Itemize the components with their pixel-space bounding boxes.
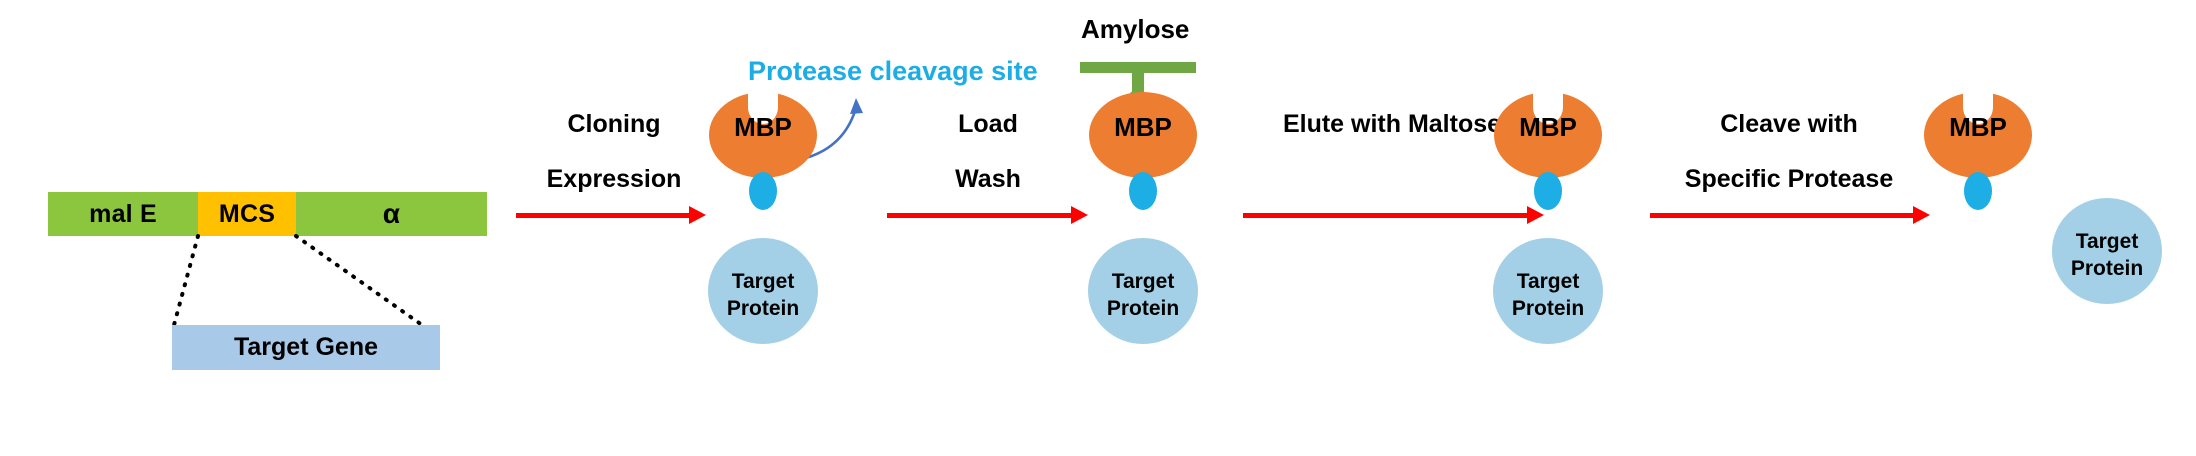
target-protein-3: [1493, 238, 1603, 344]
protease-linker-4: [1964, 172, 1992, 210]
mbp-notch-1: [748, 90, 778, 124]
step-cleave-label-bottom: Specific Protease: [1644, 165, 1934, 194]
protease-linker-2: [1129, 172, 1157, 210]
target-protein-4-released: [2052, 198, 2162, 304]
mbp-protein-2: [1089, 92, 1197, 178]
arrow-load-wash: [887, 205, 1087, 225]
mcs-leader-lines: [150, 230, 450, 330]
step-cloning-label-bottom: Expression: [524, 165, 704, 194]
amylose-label: Amylose: [1081, 14, 1189, 45]
step-cleave-label-top: Cleave with: [1644, 110, 1934, 139]
protease-cleavage-site-label: Protease cleavage site: [748, 56, 1038, 87]
target-gene-box: Target Gene: [172, 325, 440, 370]
diagram-canvas: mal E MCS α Target Gene Cloning Expressi…: [0, 0, 2196, 456]
mbp-notch-3: [1533, 90, 1563, 124]
mbp-notch-4: [1963, 90, 1993, 124]
protease-linker-1: [749, 172, 777, 210]
target-protein-1: [708, 238, 818, 344]
step-load-label-bottom: Wash: [898, 165, 1078, 194]
arrow-cloning: [516, 205, 706, 225]
arrow-cleave: [1650, 205, 1930, 225]
step-cloning-label-top: Cloning: [524, 110, 704, 139]
protease-linker-3: [1534, 172, 1562, 210]
arrow-elute: [1243, 205, 1543, 225]
target-protein-2: [1088, 238, 1198, 344]
step-load-label-top: Load: [898, 110, 1078, 139]
